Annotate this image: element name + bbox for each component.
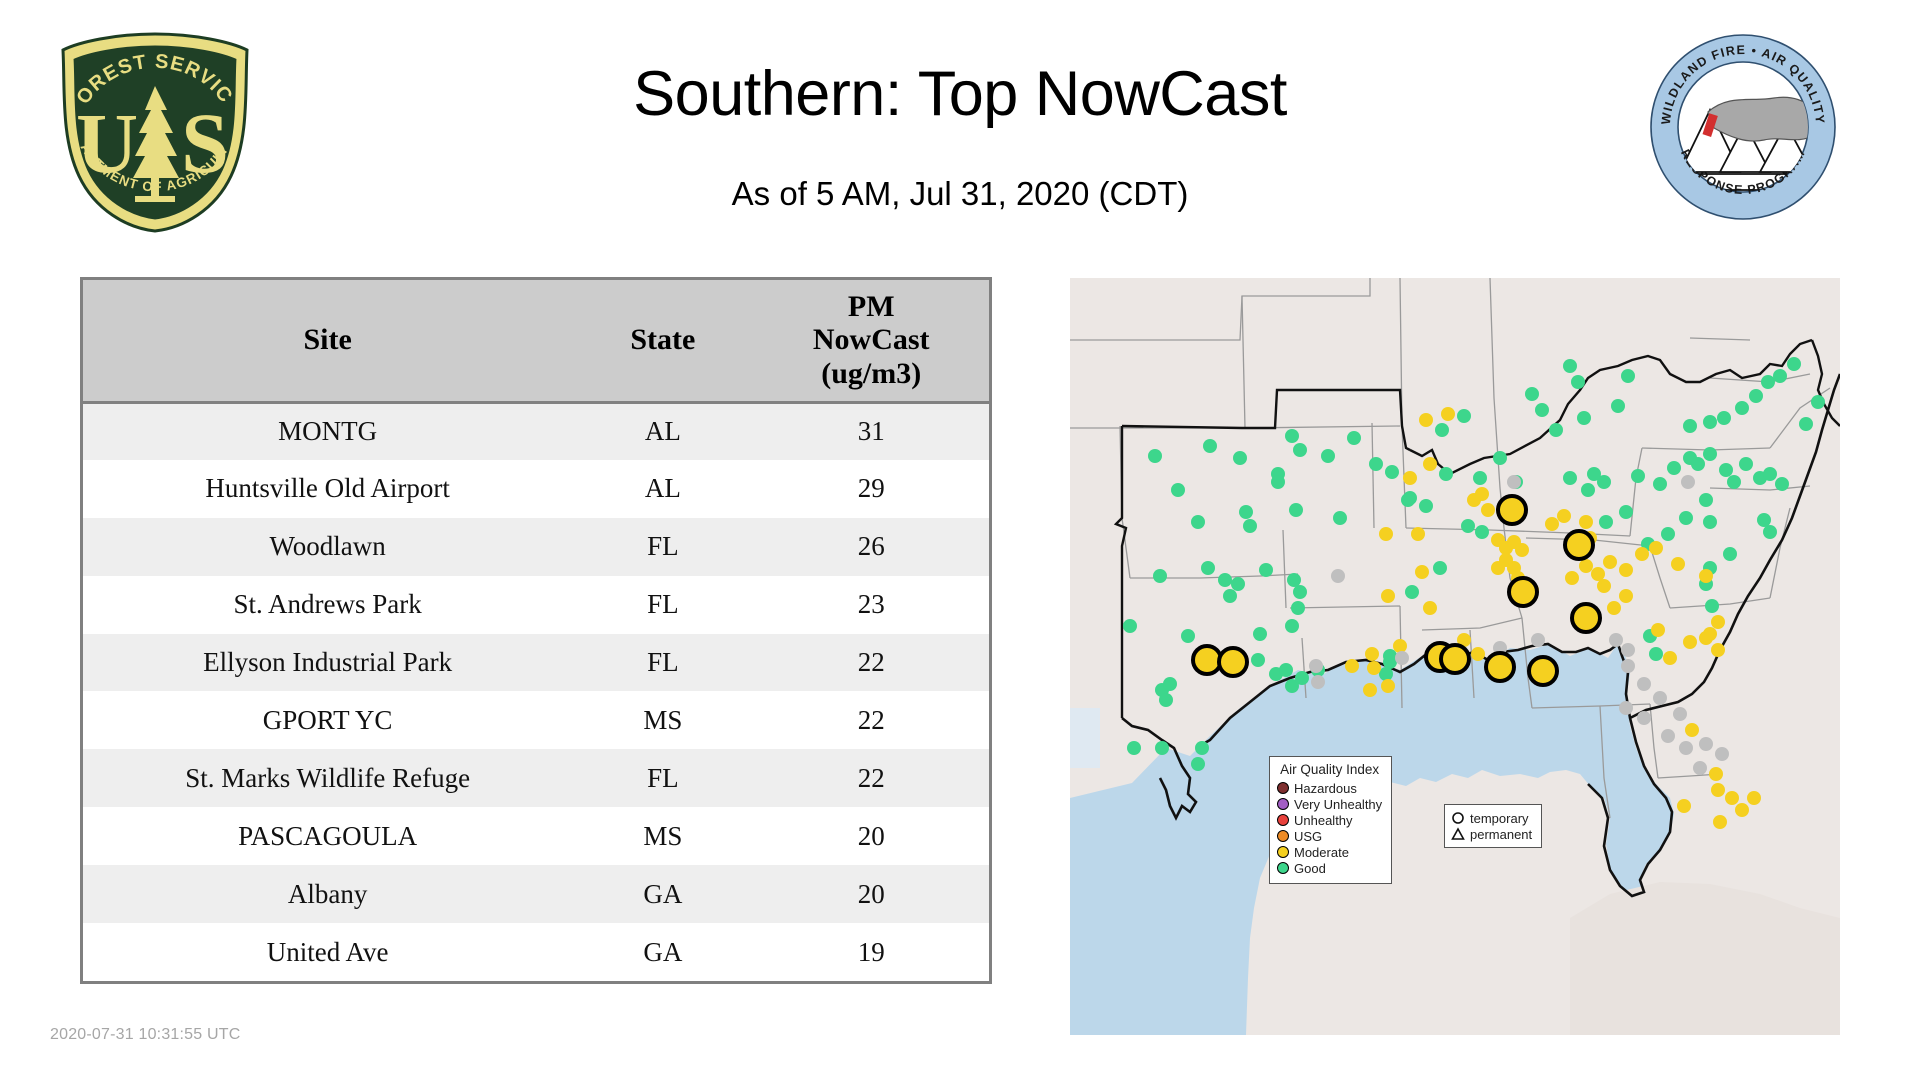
cell-site: United Ave — [83, 923, 572, 981]
cell-state: AL — [572, 402, 753, 460]
table-row[interactable]: Ellyson Industrial Park FL 22 — [83, 634, 989, 692]
table-row[interactable]: St. Marks Wildlife Refuge FL 22 — [83, 749, 989, 807]
cell-state: GA — [572, 923, 753, 981]
site-type-legend: temporary permanent — [1444, 804, 1542, 848]
aqi-legend-item-good: Good — [1277, 860, 1382, 876]
moderate-swatch-icon — [1277, 846, 1289, 858]
cell-state: FL — [572, 634, 753, 692]
aqi-legend-item-unhealthy: Unhealthy — [1277, 812, 1382, 828]
cell-state: AL — [572, 460, 753, 518]
cell-pm: 26 — [753, 518, 989, 576]
table-row[interactable]: Albany GA 20 — [83, 865, 989, 923]
aqi-legend: Air Quality Index Hazardous Very Unhealt… — [1269, 756, 1392, 884]
slide-canvas: FOREST SERVICE DEPARTMENT OF AGRICULTURE… — [0, 0, 1920, 1080]
cell-site: St. Marks Wildlife Refuge — [83, 749, 572, 807]
table-row[interactable]: Woodlawn FL 26 — [83, 518, 989, 576]
good-swatch-icon — [1277, 862, 1289, 874]
cell-site: Woodlawn — [83, 518, 572, 576]
cell-site: St. Andrews Park — [83, 576, 572, 634]
page-subtitle: As of 5 AM, Jul 31, 2020 (CDT) — [300, 175, 1620, 213]
generated-timestamp: 2020-07-31 10:31:55 UTC — [50, 1026, 241, 1044]
cell-pm: 20 — [753, 865, 989, 923]
cell-site: Albany — [83, 865, 572, 923]
cell-state: FL — [572, 518, 753, 576]
cell-pm: 31 — [753, 402, 989, 460]
cell-state: MS — [572, 691, 753, 749]
svg-text:U: U — [76, 95, 138, 191]
cell-pm: 29 — [753, 460, 989, 518]
column-header-state: State — [572, 280, 753, 402]
aqi-monitor-map[interactable]: Air Quality Index Hazardous Very Unhealt… — [1070, 278, 1840, 1035]
column-header-pm-nowcast: PM NowCast (ug/m3) — [753, 280, 989, 402]
aqi-legend-item-usg: USG — [1277, 828, 1382, 844]
aqi-legend-item-hazardous: Hazardous — [1277, 780, 1382, 796]
table-row[interactable]: St. Andrews Park FL 23 — [83, 576, 989, 634]
cell-pm: 20 — [753, 807, 989, 865]
table-row[interactable]: MONTG AL 31 — [83, 402, 989, 460]
cell-site: Ellyson Industrial Park — [83, 634, 572, 692]
aqi-legend-item-very-unhealthy: Very Unhealthy — [1277, 796, 1382, 812]
cell-site: Huntsville Old Airport — [83, 460, 572, 518]
table-row[interactable]: GPORT YC MS 22 — [83, 691, 989, 749]
cell-state: FL — [572, 576, 753, 634]
wildland-fire-air-quality-seal-icon: WILDLAND FIRE • AIR QUALITY RESPONSE PRO… — [1648, 32, 1838, 222]
cell-pm: 23 — [753, 576, 989, 634]
cell-pm: 22 — [753, 634, 989, 692]
top-nowcast-table: Site State PM NowCast (ug/m3) MONTG AL — [80, 277, 992, 984]
very-unhealthy-swatch-icon — [1277, 798, 1289, 810]
usg-swatch-icon — [1277, 830, 1289, 842]
cell-site: GPORT YC — [83, 691, 572, 749]
cell-pm: 22 — [753, 749, 989, 807]
cell-state: GA — [572, 865, 753, 923]
column-header-site: Site — [83, 280, 572, 402]
cell-pm: 19 — [753, 923, 989, 981]
site-type-legend-item-permanent: permanent — [1451, 826, 1532, 842]
circle-marker-icon — [1451, 811, 1465, 825]
svg-text:S: S — [181, 95, 229, 191]
usda-forest-service-shield-icon: FOREST SERVICE DEPARTMENT OF AGRICULTURE… — [55, 30, 255, 235]
aqi-legend-item-moderate: Moderate — [1277, 844, 1382, 860]
table-row[interactable]: United Ave GA 19 — [83, 923, 989, 981]
hazardous-swatch-icon — [1277, 782, 1289, 794]
table-body: MONTG AL 31 Huntsville Old Airport AL 29… — [83, 402, 989, 981]
triangle-marker-icon — [1451, 827, 1465, 841]
cell-site: MONTG — [83, 402, 572, 460]
aqi-legend-title: Air Quality Index — [1277, 762, 1382, 777]
cell-site: PASCAGOULA — [83, 807, 572, 865]
unhealthy-swatch-icon — [1277, 814, 1289, 826]
cell-state: MS — [572, 807, 753, 865]
cell-state: FL — [572, 749, 753, 807]
site-type-legend-item-temporary: temporary — [1451, 810, 1532, 826]
cell-pm: 22 — [753, 691, 989, 749]
page-title: Southern: Top NowCast — [300, 58, 1620, 130]
table-row[interactable]: Huntsville Old Airport AL 29 — [83, 460, 989, 518]
table-header-row: Site State PM NowCast (ug/m3) — [83, 280, 989, 402]
map-graphic — [1070, 278, 1840, 1035]
table-row[interactable]: PASCAGOULA MS 20 — [83, 807, 989, 865]
